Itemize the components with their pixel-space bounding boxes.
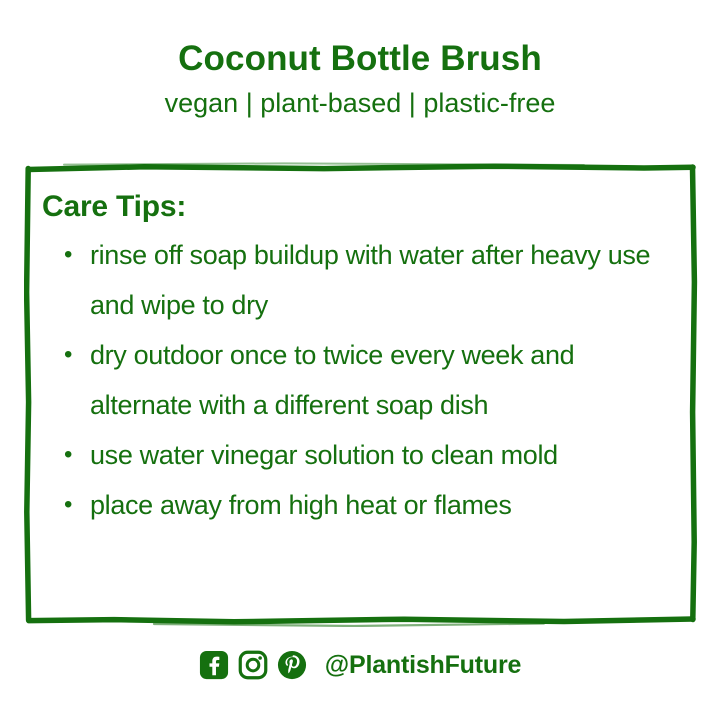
instagram-icon[interactable] (238, 650, 268, 680)
social-footer: @PlantishFuture (0, 650, 720, 680)
pinterest-icon[interactable] (277, 650, 307, 680)
list-item: rinse off soap buildup with water after … (42, 230, 680, 330)
page-title: Coconut Bottle Brush (0, 38, 720, 80)
care-tips-list: rinse off soap buildup with water after … (42, 230, 680, 530)
care-tips-heading: Care Tips: (42, 190, 680, 224)
care-tips-box: Care Tips: rinse off soap buildup with w… (24, 162, 698, 627)
list-item: dry outdoor once to twice every week and… (42, 330, 680, 430)
header: Coconut Bottle Brush vegan | plant-based… (0, 38, 720, 120)
social-handle[interactable]: @PlantishFuture (325, 650, 521, 680)
facebook-icon[interactable] (199, 650, 229, 680)
care-tips-content: Care Tips: rinse off soap buildup with w… (42, 190, 680, 609)
product-attributes-subtitle: vegan | plant-based | plastic-free (0, 86, 720, 120)
product-care-card: Coconut Bottle Brush vegan | plant-based… (0, 0, 720, 720)
list-item: use water vinegar solution to clean mold (42, 430, 680, 480)
list-item: place away from high heat or flames (42, 480, 680, 530)
